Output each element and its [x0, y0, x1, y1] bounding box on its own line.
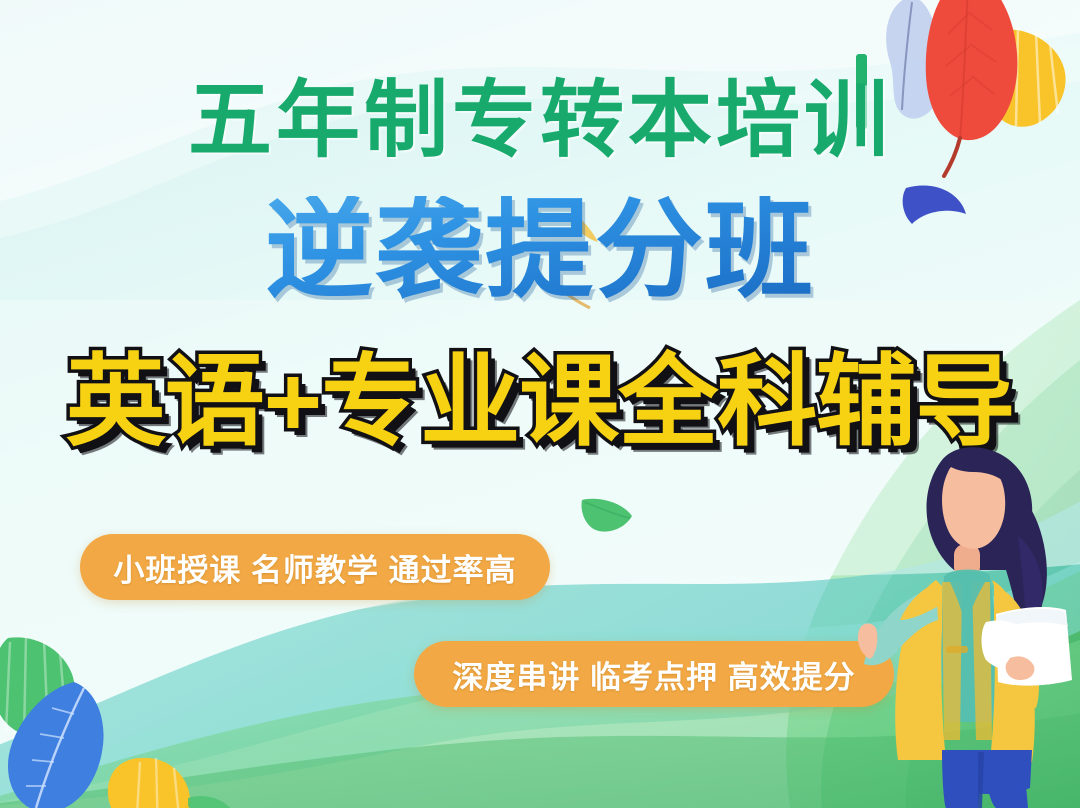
headline-course-title: 逆袭提分班	[0, 196, 1080, 304]
promo-poster: 五年制专转本培训 逆袭提分班 英语+专业课全科辅导 小班授课 名师教学 通过率高…	[0, 0, 1080, 808]
pill-features[interactable]: 小班授课 名师教学 通过率高	[80, 534, 550, 600]
pill-benefits[interactable]: 深度串讲 临考点押 高效提分	[414, 641, 894, 707]
female-student-illustration	[850, 440, 1080, 808]
headline-program-title: 五年制专转本培训	[0, 78, 1080, 162]
headline-subjects-title: 英语+专业课全科辅导	[0, 352, 1080, 452]
